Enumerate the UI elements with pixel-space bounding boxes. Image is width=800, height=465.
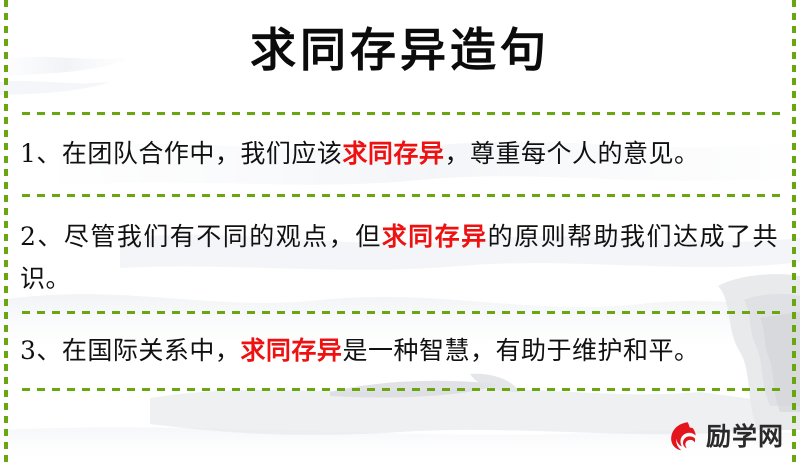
sentence-text-before-3: 在国际关系中，: [62, 336, 241, 365]
highlighted-keyword-3: 求同存异: [240, 336, 342, 365]
sentence-text-after-3: 是一种智慧，有助于维护和平。: [342, 336, 699, 365]
highlighted-keyword-2: 求同存异: [382, 222, 488, 251]
red-swirl-flame-icon: [666, 419, 700, 453]
dashed-separator-2: [22, 194, 782, 197]
page-title: 求同存异造句: [0, 24, 800, 77]
dashed-separator-3: [22, 311, 782, 314]
site-logo-text: 励学网: [706, 424, 784, 449]
dashed-separator-4: [22, 388, 782, 391]
sentence-number-2: 2、: [20, 222, 64, 251]
sentence-number-3: 3、: [20, 336, 62, 365]
site-logo[interactable]: 励学网: [666, 417, 784, 455]
example-sentence-2: 2、尽管我们有不同的观点，但求同存异的原则帮助我们达成了共识。: [20, 216, 778, 300]
dashed-separator-1: [22, 112, 782, 115]
worksheet-page: 求同存异造句 1、在团队合作中，我们应该求同存异，尊重每个人的意见。 2、尽管我…: [0, 0, 800, 465]
example-sentence-3: 3、在国际关系中，求同存异是一种智慧，有助于维护和平。: [20, 330, 778, 372]
highlighted-keyword-1: 求同存异: [342, 139, 444, 168]
sentence-number-1: 1、: [20, 139, 62, 168]
sentence-text-before-1: 在团队合作中，我们应该: [62, 139, 343, 168]
sentence-text-before-2: 尽管我们有不同的观点，但: [64, 222, 382, 251]
sentence-text-after-1: ，尊重每个人的意见。: [444, 139, 699, 168]
example-sentence-1: 1、在团队合作中，我们应该求同存异，尊重每个人的意见。: [20, 133, 778, 175]
